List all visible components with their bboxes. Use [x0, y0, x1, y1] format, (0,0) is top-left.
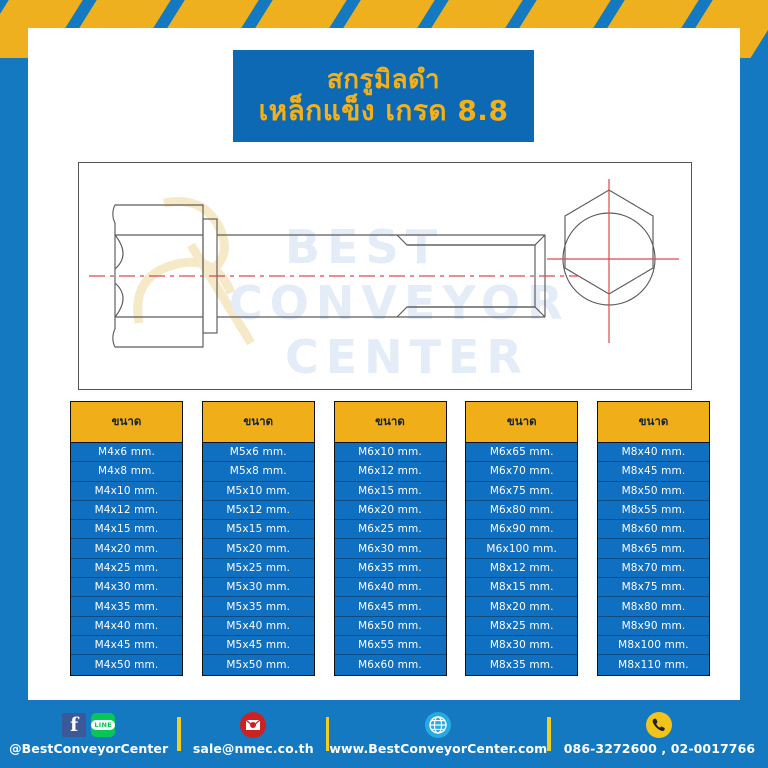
- table-row[interactable]: M6x35 mm.: [335, 559, 446, 578]
- table-row[interactable]: M5x8 mm.: [203, 462, 314, 481]
- table-row[interactable]: M5x12 mm.: [203, 501, 314, 520]
- size-column-1: ขนาด M4x6 mm. M4x8 mm. M4x10 mm. M4x12 m…: [70, 401, 183, 683]
- website-url: www.BestConveyorCenter.com: [329, 741, 547, 756]
- table-row[interactable]: M6x25 mm.: [335, 520, 446, 539]
- table-row[interactable]: M6x55 mm.: [335, 636, 446, 655]
- table-row[interactable]: M8x75 mm.: [598, 578, 709, 597]
- table-row[interactable]: M4x8 mm.: [71, 462, 182, 481]
- table-row[interactable]: M6x10 mm.: [335, 443, 446, 462]
- table-row[interactable]: M4x50 mm.: [71, 655, 182, 674]
- globe-icon[interactable]: [425, 712, 451, 738]
- table-row[interactable]: M8x90 mm.: [598, 617, 709, 636]
- table-row[interactable]: M8x15 mm.: [466, 578, 577, 597]
- poster-root: สกรูมิลดำ เหล็กแข็ง เกรด 8.8 BEST CONVEY…: [0, 0, 768, 768]
- table-row[interactable]: M5x50 mm.: [203, 655, 314, 674]
- table-row[interactable]: M6x80 mm.: [466, 501, 577, 520]
- table-row[interactable]: M8x55 mm.: [598, 501, 709, 520]
- table-row[interactable]: M8x50 mm.: [598, 482, 709, 501]
- table-row[interactable]: M4x6 mm.: [71, 443, 182, 462]
- page-title: สกรูมิลดำ เหล็กแข็ง เกรด 8.8: [233, 50, 534, 142]
- footer-social[interactable]: f LINE @BestConveyorCenter: [0, 712, 177, 756]
- column-header: ขนาด: [70, 401, 183, 443]
- table-row[interactable]: M6x15 mm.: [335, 482, 446, 501]
- table-row[interactable]: M5x6 mm.: [203, 443, 314, 462]
- table-row[interactable]: M6x100 mm.: [466, 539, 577, 558]
- column-body: M4x6 mm. M4x8 mm. M4x10 mm. M4x12 mm. M4…: [70, 443, 183, 676]
- table-row[interactable]: M8x110 mm.: [598, 655, 709, 674]
- size-column-4: ขนาด M6x65 mm. M6x70 mm. M6x75 mm. M6x80…: [465, 401, 578, 683]
- column-body: M8x40 mm. M8x45 mm. M8x50 mm. M8x55 mm. …: [597, 443, 710, 676]
- table-row[interactable]: M8x80 mm.: [598, 597, 709, 616]
- phone-icon[interactable]: [646, 712, 672, 738]
- table-row[interactable]: M5x35 mm.: [203, 597, 314, 616]
- column-header: ขนาด: [465, 401, 578, 443]
- table-row[interactable]: M4x35 mm.: [71, 597, 182, 616]
- footer-email[interactable]: sale@nmec.co.th: [181, 712, 326, 756]
- table-row[interactable]: M5x15 mm.: [203, 520, 314, 539]
- column-header: ขนาด: [334, 401, 447, 443]
- table-row[interactable]: M8x40 mm.: [598, 443, 709, 462]
- table-row[interactable]: M6x65 mm.: [466, 443, 577, 462]
- table-row[interactable]: M6x75 mm.: [466, 482, 577, 501]
- table-row[interactable]: M6x12 mm.: [335, 462, 446, 481]
- footer-website[interactable]: www.BestConveyorCenter.com: [329, 712, 547, 756]
- table-row[interactable]: M8x20 mm.: [466, 597, 577, 616]
- table-row[interactable]: M4x12 mm.: [71, 501, 182, 520]
- table-row[interactable]: M6x90 mm.: [466, 520, 577, 539]
- table-row[interactable]: M4x30 mm.: [71, 578, 182, 597]
- table-row[interactable]: M6x70 mm.: [466, 462, 577, 481]
- table-row[interactable]: M4x15 mm.: [71, 520, 182, 539]
- column-header: ขนาด: [597, 401, 710, 443]
- column-header: ขนาด: [202, 401, 315, 443]
- table-row[interactable]: M8x100 mm.: [598, 636, 709, 655]
- bolt-geometry: [79, 163, 691, 389]
- size-tables: ขนาด M4x6 mm. M4x8 mm. M4x10 mm. M4x12 m…: [70, 401, 710, 683]
- table-row[interactable]: M5x25 mm.: [203, 559, 314, 578]
- column-body: M6x10 mm. M6x12 mm. M6x15 mm. M6x20 mm. …: [334, 443, 447, 676]
- size-column-3: ขนาด M6x10 mm. M6x12 mm. M6x15 mm. M6x20…: [334, 401, 447, 683]
- table-row[interactable]: M8x30 mm.: [466, 636, 577, 655]
- table-row[interactable]: M6x60 mm.: [335, 655, 446, 674]
- table-row[interactable]: M8x70 mm.: [598, 559, 709, 578]
- table-row[interactable]: M4x45 mm.: [71, 636, 182, 655]
- table-row[interactable]: M5x40 mm.: [203, 617, 314, 636]
- contact-footer: f LINE @BestConveyorCenter sale: [0, 700, 768, 768]
- table-row[interactable]: M8x65 mm.: [598, 539, 709, 558]
- table-row[interactable]: M5x45 mm.: [203, 636, 314, 655]
- title-line-1: สกรูมิลดำ: [327, 66, 440, 95]
- table-row[interactable]: M6x50 mm.: [335, 617, 446, 636]
- table-row[interactable]: M8x35 mm.: [466, 655, 577, 674]
- table-row[interactable]: M5x20 mm.: [203, 539, 314, 558]
- column-body: M5x6 mm. M5x8 mm. M5x10 mm. M5x12 mm. M5…: [202, 443, 315, 676]
- title-line-2: เหล็กแข็ง เกรด 8.8: [259, 95, 509, 126]
- size-column-2: ขนาด M5x6 mm. M5x8 mm. M5x10 mm. M5x12 m…: [202, 401, 315, 683]
- table-row[interactable]: M5x10 mm.: [203, 482, 314, 501]
- size-column-5: ขนาด M8x40 mm. M8x45 mm. M8x50 mm. M8x55…: [597, 401, 710, 683]
- table-row[interactable]: M4x20 mm.: [71, 539, 182, 558]
- table-row[interactable]: M4x25 mm.: [71, 559, 182, 578]
- facebook-icon[interactable]: f: [62, 713, 86, 737]
- table-row[interactable]: M6x40 mm.: [335, 578, 446, 597]
- table-row[interactable]: M8x45 mm.: [598, 462, 709, 481]
- table-row[interactable]: M8x60 mm.: [598, 520, 709, 539]
- table-row[interactable]: M5x30 mm.: [203, 578, 314, 597]
- table-row[interactable]: M4x10 mm.: [71, 482, 182, 501]
- social-handle: @BestConveyorCenter: [9, 741, 168, 756]
- line-icon[interactable]: LINE: [91, 713, 115, 737]
- column-body: M6x65 mm. M6x70 mm. M6x75 mm. M6x80 mm. …: [465, 443, 578, 676]
- footer-phone[interactable]: 086-3272600 , 02-0017766: [551, 712, 768, 756]
- bolt-technical-drawing: BEST CONVEYOR CENTER: [78, 162, 692, 390]
- table-row[interactable]: M8x12 mm.: [466, 559, 577, 578]
- email-address: sale@nmec.co.th: [193, 741, 314, 756]
- email-icon[interactable]: [240, 712, 266, 738]
- phone-numbers: 086-3272600 , 02-0017766: [564, 741, 755, 756]
- table-row[interactable]: M8x25 mm.: [466, 617, 577, 636]
- table-row[interactable]: M4x40 mm.: [71, 617, 182, 636]
- table-row[interactable]: M6x45 mm.: [335, 597, 446, 616]
- table-row[interactable]: M6x30 mm.: [335, 539, 446, 558]
- table-row[interactable]: M6x20 mm.: [335, 501, 446, 520]
